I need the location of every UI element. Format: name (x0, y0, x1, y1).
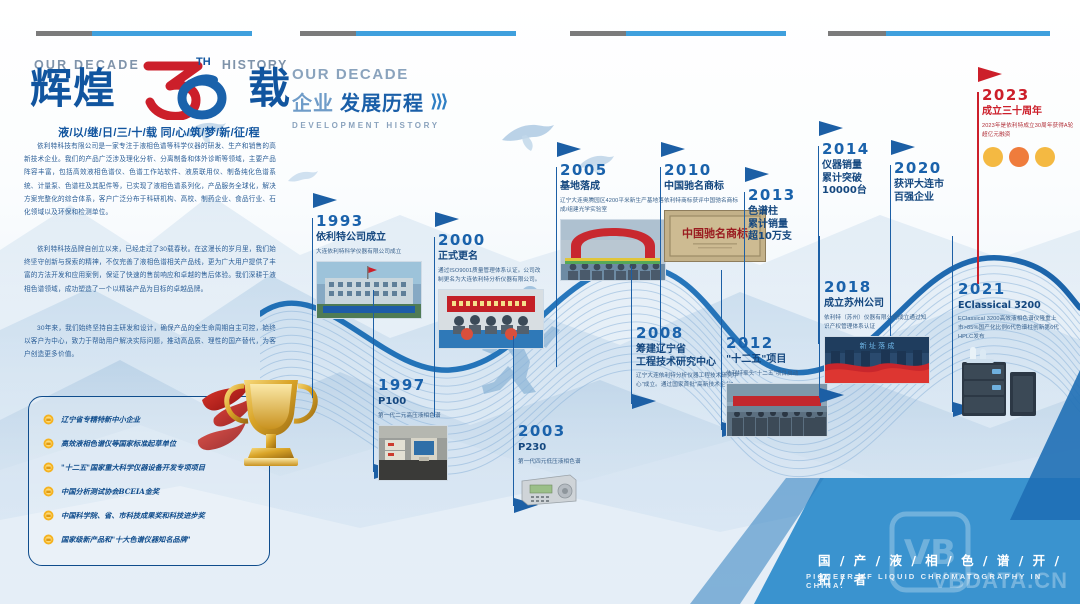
timeline-desc: 通过ISO9001质量管理体系认证。公司改制更名为大连依利特分析仪器有限公司。 (438, 267, 546, 285)
flag-pole (373, 290, 374, 472)
logo-cn-right: 载 (248, 68, 290, 110)
section-cn-light: 企业 (292, 87, 334, 116)
timeline-card-1997[interactable]: 1997 P100 第一代二元高压液相色谱 (378, 378, 486, 481)
timeline-year: 2020 (894, 161, 964, 176)
pennant-icon (631, 392, 657, 416)
timeline-desc: 依利特牵头"十二五"项目启动 (726, 370, 832, 379)
timeline-desc: 2023年是依利特成立30周年获得A轮超亿元融资 (982, 122, 1074, 140)
award-item: "十二五"国家重大科学仪器设备开发专项项目 (43, 462, 205, 473)
section-en-title: OUR DECADE (292, 66, 446, 83)
timeline-desc: 第一代二元高压液相色谱 (378, 412, 486, 421)
timeline-year: 2003 (518, 424, 626, 439)
pennant-icon (977, 66, 1003, 90)
timeline-photo (438, 289, 544, 349)
pennant-icon (818, 120, 844, 144)
medal-icon (43, 486, 54, 497)
timeline-card-1993[interactable]: 1993 依利特公司成立 大连依利特科学仪器有限公司成立 (316, 214, 424, 319)
award-label: 辽宁省专精特新中小企业 (61, 415, 140, 425)
timeline-year: 2018 (824, 280, 932, 295)
medal-icon (43, 414, 54, 425)
watermark-label: VBDATA.CN (933, 568, 1068, 594)
timeline-year: 2014 (822, 142, 888, 157)
timeline-year: 2000 (438, 233, 546, 248)
timeline-title: 仪器销量 累计突破 10000台 (822, 160, 888, 198)
pennant-icon (312, 192, 338, 216)
section-subtitle: DEVELOPMENT HISTORY (292, 121, 446, 130)
intro-paragraph-3: 30年来，我们始终坚持自主研发和设计，确保产品的全生命周期自主可控，始终以客户为… (24, 322, 276, 362)
dove-icon (500, 120, 556, 152)
pennant-icon (434, 211, 460, 235)
flag-pole (631, 266, 632, 404)
pennant-icon (890, 139, 916, 163)
flag-pole (513, 336, 514, 506)
flag-pole (721, 270, 722, 430)
timeline-year: 2005 (560, 163, 668, 178)
timeline-desc: 辽宁大连奥腾园区4200平米新生产基地落成/组建光学实验室 (560, 197, 668, 215)
timeline-photo (726, 383, 828, 437)
timeline-title: "十二五"项目 (726, 354, 832, 367)
award-item: 国家级新产品和"十大色谱仪器知名品牌" (43, 534, 191, 545)
timeline-card-2003[interactable]: 2003 P230 第一代四元低压液相色谱 (518, 424, 626, 507)
dove-icon (286, 168, 320, 188)
timeline-year: 1997 (378, 378, 486, 393)
timeline-desc: 依利特（苏州）仪器有限公司成立通过知识产权管理体系认证 (824, 314, 932, 332)
timeline-title: 基地落成 (560, 181, 668, 194)
timeline-photo (378, 425, 448, 481)
timeline-photo (560, 219, 666, 281)
timeline-year: 1993 (316, 214, 424, 229)
top-decor-bars (0, 31, 1080, 37)
timeline-title: 依利特公司成立 (316, 232, 424, 245)
flag-pole (312, 218, 313, 398)
award-label: 国家级新产品和"十大色谱仪器知名品牌" (61, 535, 191, 545)
logo-tagline: 液/以/继/日/三/十/载 同/心/筑/梦/新/征/程 (28, 124, 290, 140)
timeline-title: P230 (518, 442, 626, 455)
timeline-year: 2013 (748, 188, 812, 203)
timeline-card-2021[interactable]: 2021 EClassical 3200 EClassical 3200高效液相… (958, 282, 1062, 418)
timeline-photo (316, 261, 422, 319)
flag-pole (744, 192, 745, 342)
svg-text:新 址 落 成: 新 址 落 成 (860, 341, 895, 350)
award-item: 中国分析测试协会BCEIA金奖 (43, 486, 159, 497)
award-item: 中国科学院、省、市科技成果奖和科技进步奖 (43, 510, 205, 521)
logo-cn-left: 辉煌 (30, 68, 116, 110)
timeline-year: 2012 (726, 336, 832, 351)
intro-paragraph-2: 依利特科技品牌自创立以来，已经走过了30载春秋。在这漫长的岁月里，我们始终坚守创… (24, 243, 276, 296)
timeline-desc: 第一代四元低压液相色谱 (518, 458, 626, 467)
award-label: 高效液相色谱仪等国家标准起草单位 (61, 439, 176, 449)
timeline-card-2014[interactable]: 2014 仪器销量 累计突破 10000台 (822, 142, 888, 198)
logo-th-suffix: TH (196, 56, 211, 68)
award-label: 中国科学院、省、市科技成果奖和科技进步奖 (61, 511, 205, 521)
timeline-card-2012[interactable]: 2012 "十二五"项目 依利特牵头"十二五"项目启动 (726, 336, 832, 437)
timeline-year: 2021 (958, 282, 1062, 297)
intro-paragraph-1: 依利特科技有限公司是一家专注于液相色谱等科学仪器的研发、生产和销售的高新技术企业… (24, 140, 276, 219)
timeline-title: P100 (378, 396, 486, 409)
medal-icon (43, 534, 54, 545)
section-cn-title: 企业发展历程 ⟩⟩⟩ (292, 87, 446, 116)
svg-text:中国驰名商标: 中国驰名商标 (682, 226, 748, 240)
award-item: 辽宁省专精特新中小企业 (43, 414, 140, 425)
timeline-photo: 新 址 落 成 (824, 336, 930, 384)
timeline-desc: 大连依利特科学仪器有限公司成立 (316, 248, 424, 257)
timeline-card-2023[interactable]: 2023 成立三十周年 2023年是依利特成立30周年获得A轮超亿元融资 (982, 88, 1074, 173)
timeline-year: 2023 (982, 88, 1074, 103)
medal-icon (43, 462, 54, 473)
chevron-right-icon: ⟩⟩⟩ (430, 91, 446, 112)
timeline-card-2018[interactable]: 2018 成立苏州公司 依利特（苏州）仪器有限公司成立通过知识产权管理体系认证 … (824, 280, 932, 384)
timeline-title: 成立三十周年 (982, 106, 1074, 119)
timeline-photo (958, 346, 1044, 418)
timeline-title: 成立苏州公司 (824, 298, 932, 311)
flag-pole (556, 167, 557, 367)
timeline-photo (518, 471, 580, 507)
logo-30-numeral (140, 58, 236, 120)
timeline-card-2013[interactable]: 2013 色谱柱 累计销量 超10万支 (748, 188, 812, 244)
timeline-title: 获评大连市 百强企业 (894, 179, 964, 204)
flag-pole (819, 236, 820, 398)
flag-pole (952, 236, 953, 412)
poster-canvas: OUR DECADE HISTORY 辉煌 载 TH 液/以/继/日/三/十/载… (0, 0, 1080, 604)
dots-graphic (982, 146, 1056, 168)
awards-box: 辽宁省专精特新中小企业 高效液相色谱仪等国家标准起草单位 "十二五"国家重大科学… (28, 396, 270, 566)
timeline-card-2000[interactable]: 2000 正式更名 通过ISO9001质量管理体系认证。公司改制更名为大连依利特… (438, 233, 546, 349)
timeline-title: 色谱柱 累计销量 超10万支 (748, 206, 812, 244)
pennant-icon (819, 386, 845, 410)
brand-logo: OUR DECADE HISTORY 辉煌 载 TH 液/以/继/日/三/十/载… (28, 52, 290, 130)
timeline-title: EClassical 3200 (958, 300, 1062, 312)
pennant-icon (744, 166, 770, 190)
section-cn-bold: 发展历程 (340, 87, 424, 116)
timeline-card-2020[interactable]: 2020 获评大连市 百强企业 (894, 161, 964, 204)
section-header: OUR DECADE 企业发展历程 ⟩⟩⟩ DEVELOPMENT HISTOR… (292, 66, 446, 130)
timeline-card-2005[interactable]: 2005 基地落成 辽宁大连奥腾园区4200平米新生产基地落成/组建光学实验室 (560, 163, 668, 281)
timeline-title: 正式更名 (438, 251, 546, 264)
award-label: 中国分析测试协会BCEIA金奖 (61, 487, 159, 497)
flag-pole (977, 92, 979, 284)
pennant-icon (556, 141, 582, 165)
timeline-desc: EClassical 3200高效液相色谱仪隆重上市>85%国产化比例6代色谱柱… (958, 315, 1062, 342)
medal-icon (43, 438, 54, 449)
medal-icon (43, 510, 54, 521)
award-label: "十二五"国家重大科学仪器设备开发专项项目 (61, 463, 205, 473)
award-item: 高效液相色谱仪等国家标准起草单位 (43, 438, 176, 449)
pennant-icon (660, 141, 686, 165)
